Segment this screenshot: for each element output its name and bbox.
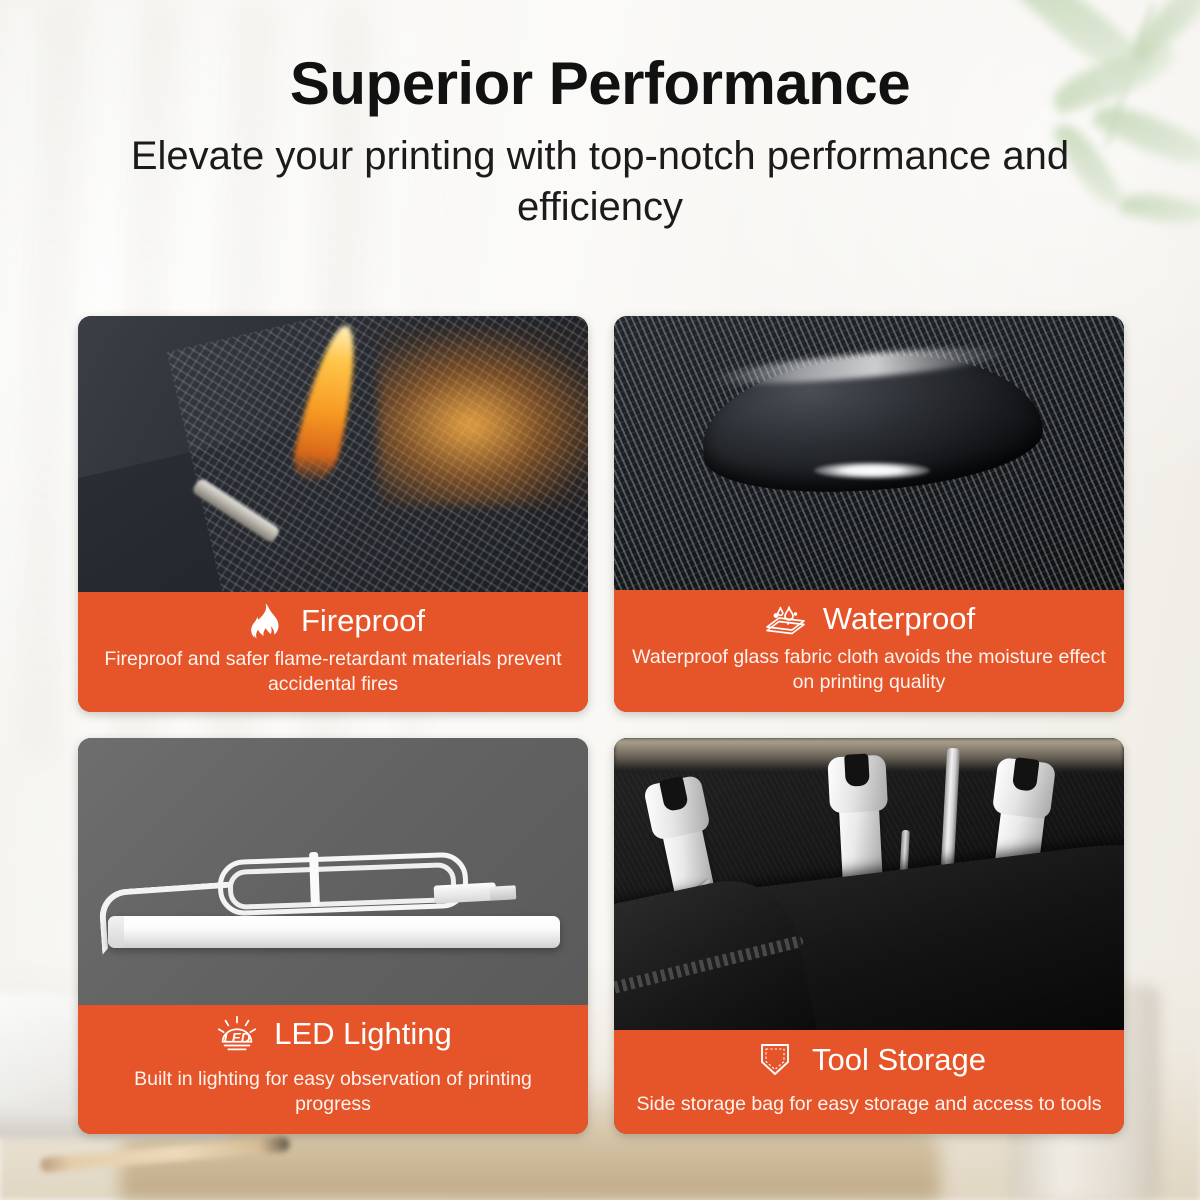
feature-card-tool-storage[interactable]: Tool Storage Side storage bag for easy s…: [614, 738, 1124, 1134]
card-title-tool-storage: Tool Storage: [812, 1043, 986, 1077]
card-description-fireproof: Fireproof and safer flame-retardant mate…: [96, 647, 570, 698]
card-description-waterproof: Waterproof glass fabric cloth avoids the…: [632, 645, 1106, 696]
card-title-waterproof: Waterproof: [823, 602, 975, 636]
card-banner-tool-storage: Tool Storage Side storage bag for easy s…: [614, 1030, 1124, 1134]
page-title: Superior Performance: [0, 0, 1200, 117]
page-subtitle: Elevate your printing with top-notch per…: [95, 131, 1105, 233]
card-photo-waterproof: [614, 316, 1124, 590]
card-photo-tool-storage: [614, 738, 1124, 1030]
feature-card-waterproof[interactable]: Waterproof Waterproof glass fabric cloth…: [614, 316, 1124, 712]
feature-card-fireproof[interactable]: Fireproof Fireproof and safer flame-reta…: [78, 316, 588, 712]
card-photo-led: [78, 738, 588, 1005]
card-description-tool-storage: Side storage bag for easy storage and ac…: [632, 1092, 1106, 1118]
card-banner-fireproof: Fireproof Fireproof and safer flame-reta…: [78, 592, 588, 712]
card-description-led: Built in lighting for easy observation o…: [96, 1067, 570, 1118]
card-title-fireproof: Fireproof: [301, 604, 425, 638]
pocket-icon: [752, 1040, 798, 1080]
water-droplet-on-fabric-icon: [763, 600, 809, 640]
promo-page: Superior Performance Elevate your printi…: [0, 0, 1200, 1200]
card-photo-fireproof: [78, 316, 588, 592]
card-banner-led: LED LED Lighting Built in lighting for e…: [78, 1005, 588, 1134]
flame-icon: [241, 602, 287, 642]
feature-card-grid: Fireproof Fireproof and safer flame-reta…: [78, 316, 1124, 1134]
card-banner-waterproof: Waterproof Waterproof glass fabric cloth…: [614, 590, 1124, 712]
led-lamp-icon: LED: [214, 1015, 260, 1055]
svg-text:LED: LED: [224, 1030, 251, 1045]
feature-card-led-lighting[interactable]: LED LED Lighting Built in lighting for e…: [78, 738, 588, 1134]
header: Superior Performance Elevate your printi…: [0, 0, 1200, 233]
card-title-led: LED Lighting: [274, 1017, 452, 1051]
